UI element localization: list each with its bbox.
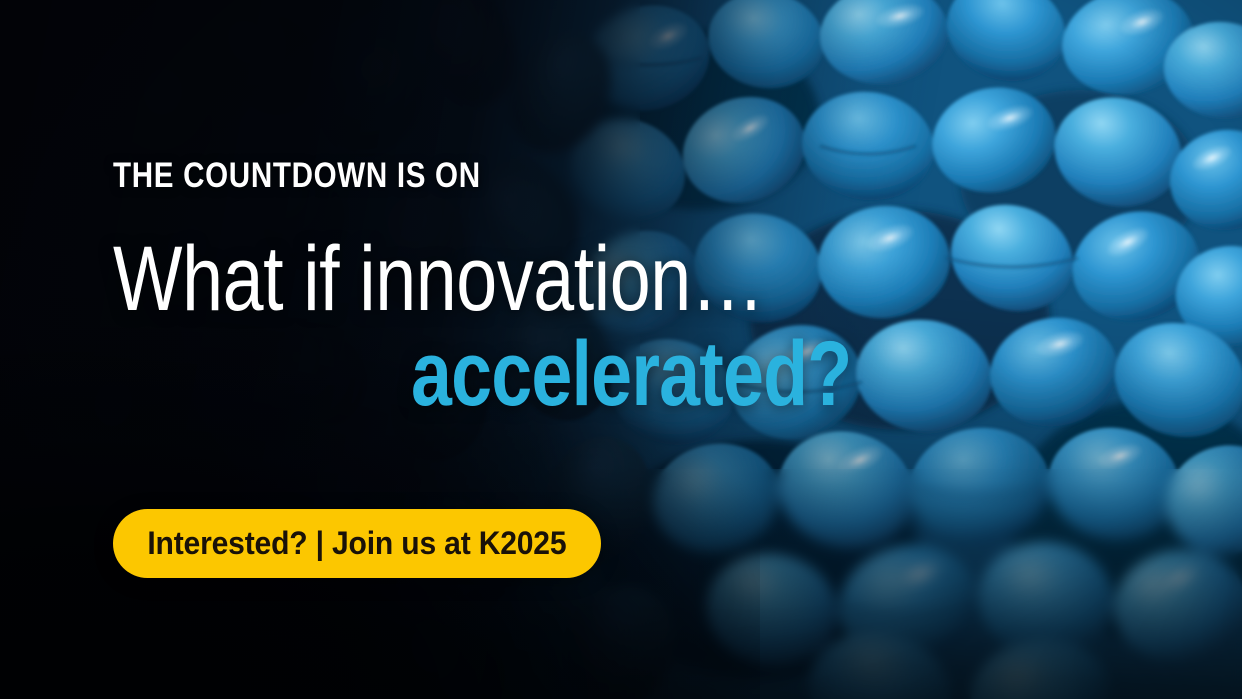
campaign-banner: THE COUNTDOWN IS ON What if innovation… … xyxy=(0,0,1242,699)
cta-button[interactable]: Interested? | Join us at K2025 xyxy=(113,509,601,578)
headline-line-1: What if innovation… xyxy=(113,234,792,325)
headline-line-2-accent: accelerated? xyxy=(411,329,851,420)
headline: What if innovation… accelerated? xyxy=(113,234,962,420)
cta-button-label: Interested? | Join us at K2025 xyxy=(147,525,566,562)
kicker-text: THE COUNTDOWN IS ON xyxy=(113,158,481,193)
banner-content: THE COUNTDOWN IS ON What if innovation… … xyxy=(0,0,1242,699)
